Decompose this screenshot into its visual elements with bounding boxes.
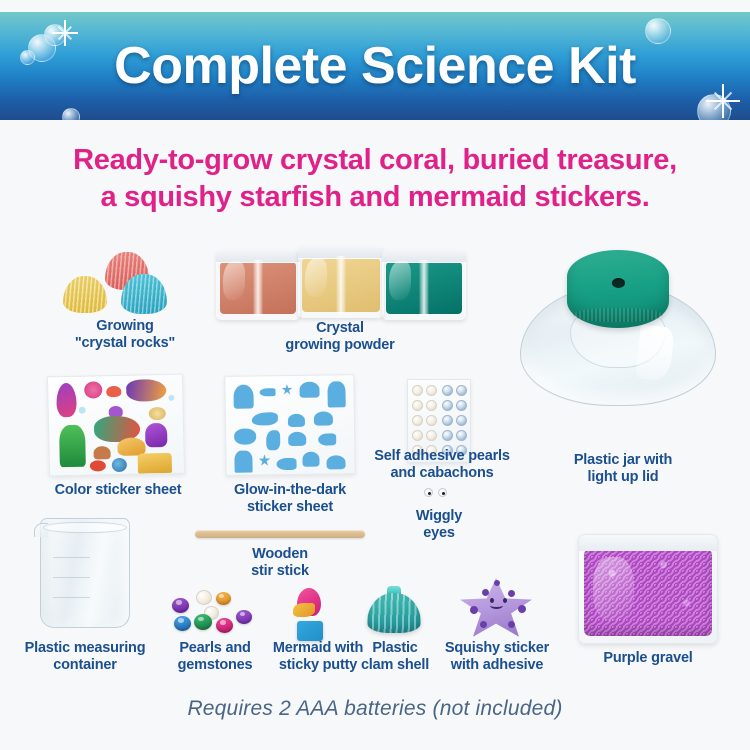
crystal-rock-yellow bbox=[63, 276, 107, 313]
subtitle: Ready-to-grow crystal coral, buried trea… bbox=[0, 142, 750, 216]
pearl-cream bbox=[196, 590, 212, 605]
glow-seaweed-2 bbox=[234, 451, 252, 473]
cabachon bbox=[442, 430, 453, 441]
glow-shell bbox=[288, 414, 305, 427]
gem-green bbox=[194, 614, 212, 630]
cabachon bbox=[442, 400, 453, 411]
glow-starfish bbox=[281, 384, 292, 395]
glow-fish-3 bbox=[276, 458, 296, 470]
glow-fish-2 bbox=[318, 433, 336, 445]
starfish-dot bbox=[508, 621, 515, 628]
wiggly-eye bbox=[424, 488, 433, 497]
cabachon bbox=[442, 385, 453, 396]
starfish-dot bbox=[470, 606, 478, 614]
sticker-bubble bbox=[79, 407, 86, 414]
clam-shell-body bbox=[367, 593, 421, 633]
item-wiggly-eyes bbox=[424, 488, 454, 500]
pearl bbox=[412, 400, 423, 411]
battery-note: Requires 2 AAA batteries (not included) bbox=[0, 697, 750, 721]
wiggly-eye bbox=[438, 488, 447, 497]
item-growing-crystal-rocks bbox=[45, 248, 215, 318]
starfish-dot bbox=[518, 605, 526, 613]
label-color-sticker-sheet: Color sticker sheet bbox=[28, 482, 208, 499]
sticker-seaweed bbox=[59, 425, 86, 468]
lid-hole bbox=[612, 278, 625, 288]
pearl bbox=[426, 400, 437, 411]
glow-coral-2 bbox=[302, 452, 319, 467]
beaker-rim bbox=[43, 522, 127, 533]
sticky-putty bbox=[297, 621, 323, 641]
label-wiggly-eyes: Wiggly eyes bbox=[379, 508, 499, 542]
pearl bbox=[412, 415, 423, 426]
gem-orange bbox=[216, 592, 231, 605]
item-purple-gravel bbox=[578, 534, 718, 644]
page-title: Complete Science Kit bbox=[0, 12, 750, 120]
cabachon bbox=[456, 400, 467, 411]
powder-packet-yellow bbox=[298, 246, 384, 318]
pearl bbox=[412, 430, 423, 441]
item-plastic-measuring-container bbox=[40, 518, 130, 628]
gem-blue bbox=[174, 616, 191, 631]
sticker-shell-brown bbox=[93, 446, 110, 459]
label-squishy-sticker: Squishy sticker with adhesive bbox=[432, 640, 562, 674]
sticker-anemone-purple bbox=[145, 423, 167, 447]
sticker-castle-gold bbox=[138, 453, 172, 474]
cabachon bbox=[456, 385, 467, 396]
beaker-graduation bbox=[53, 577, 90, 578]
label-wooden-stir-stick: Wooden stir stick bbox=[200, 546, 360, 580]
gem-purple bbox=[172, 598, 189, 613]
starfish-dot bbox=[480, 621, 487, 628]
label-purple-gravel: Purple gravel bbox=[578, 650, 718, 667]
cabachon bbox=[456, 415, 467, 426]
item-plastic-clam-shell bbox=[365, 586, 425, 636]
label-plastic-jar: Plastic jar with light up lid bbox=[528, 452, 718, 486]
beaker-graduation bbox=[53, 597, 90, 598]
bag-seal bbox=[579, 535, 717, 551]
bag-sheen bbox=[593, 557, 634, 622]
cabachon bbox=[442, 415, 453, 426]
item-plastic-jar bbox=[520, 250, 716, 410]
starfish-dot bbox=[482, 589, 489, 596]
glow-starfish-2 bbox=[258, 454, 270, 466]
glow-coral-branch bbox=[234, 428, 256, 444]
subtitle-line-1: Ready-to-grow crystal coral, buried trea… bbox=[0, 142, 750, 179]
sticker-coral-pink bbox=[84, 381, 102, 398]
item-crystal-growing-powder bbox=[216, 244, 466, 322]
header-banner: Complete Science Kit bbox=[0, 12, 750, 120]
sticker-mermaid-purple bbox=[56, 383, 77, 417]
item-mermaid-with-sticky-putty bbox=[285, 588, 345, 638]
starfish-smile bbox=[490, 602, 503, 609]
item-squishy-sticker bbox=[460, 578, 532, 640]
label-plastic-measuring-container: Plastic measuring container bbox=[5, 640, 165, 674]
mermaid-tail bbox=[293, 603, 315, 617]
sticker-pearl-gold bbox=[149, 407, 166, 420]
sticker-bubble bbox=[168, 395, 174, 401]
glow-coral bbox=[299, 382, 319, 398]
glow-shell-3 bbox=[326, 455, 345, 469]
glow-seaweed bbox=[327, 381, 345, 407]
sticker-fish-red bbox=[90, 460, 106, 471]
glow-clam bbox=[314, 411, 333, 425]
starfish-dot bbox=[508, 590, 515, 597]
crystal-rock-teal bbox=[121, 274, 167, 314]
item-color-sticker-sheet bbox=[47, 374, 185, 477]
glow-fish bbox=[259, 388, 275, 396]
beaker-graduation bbox=[53, 557, 90, 558]
sticker-snail-blue bbox=[112, 458, 127, 472]
sticker-mermaid-teal bbox=[126, 379, 166, 402]
sticker-crab bbox=[106, 386, 121, 397]
powder-packet-teal bbox=[382, 250, 466, 320]
gem-violet bbox=[236, 610, 252, 624]
gem-pink bbox=[216, 618, 233, 633]
item-wooden-stir-stick bbox=[195, 530, 365, 538]
subtitle-line-2: a squishy starfish and mermaid stickers. bbox=[0, 179, 750, 216]
label-crystal-growing-powder: Crystal growing powder bbox=[250, 320, 430, 354]
label-growing-crystal-rocks: Growing "crystal rocks" bbox=[35, 318, 215, 352]
pearl bbox=[426, 430, 437, 441]
label-glow-sticker-sheet: Glow-in-the-dark sticker sheet bbox=[210, 482, 370, 516]
pearl bbox=[426, 385, 437, 396]
glow-seahorse bbox=[266, 430, 280, 450]
glow-dolphin bbox=[252, 412, 278, 425]
powder-packet-coral bbox=[216, 250, 300, 320]
pearl bbox=[426, 415, 437, 426]
glow-jellyfish bbox=[233, 385, 253, 409]
pearl bbox=[412, 385, 423, 396]
starfish-eye bbox=[503, 598, 507, 603]
glow-shell-2 bbox=[288, 432, 306, 446]
cabachon bbox=[456, 430, 467, 441]
item-glow-sticker-sheet bbox=[224, 374, 355, 476]
label-pearls-cabachons: Self adhesive pearls and cabachons bbox=[362, 448, 522, 482]
jar-lid bbox=[567, 250, 669, 328]
item-pearls-and-gemstones bbox=[170, 588, 260, 638]
starfish-dot bbox=[494, 580, 500, 586]
